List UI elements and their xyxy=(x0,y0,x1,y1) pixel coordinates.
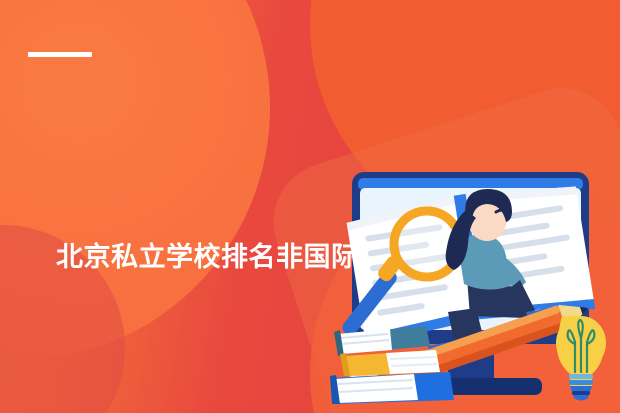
accent-rule xyxy=(28,52,92,57)
banner: 北京私立学校排名非国际 北京 私立高中排名 xyxy=(0,0,620,413)
book-blue xyxy=(330,372,454,404)
online-research-illustration xyxy=(330,160,620,413)
book-yellow xyxy=(340,350,440,376)
lightbulb-icon xyxy=(556,316,606,401)
